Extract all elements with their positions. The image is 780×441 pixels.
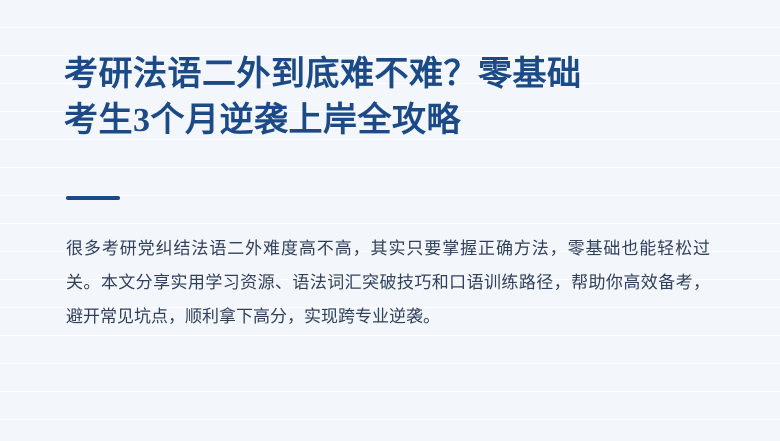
title-divider [66,196,120,200]
article-card: 考研法语二外到底难不难？零基础 考生3个月逆袭上岸全攻略 很多考研党纠结法语二外… [0,0,780,441]
article-content: 考研法语二外到底难不难？零基础 考生3个月逆袭上岸全攻略 很多考研党纠结法语二外… [64,0,732,441]
page-title: 考研法语二外到底难不难？零基础 考生3个月逆袭上岸全攻略 [64,52,704,144]
article-summary: 很多考研党纠结法语二外难度高不高，其实只要掌握正确方法，零基础也能轻松过关。本文… [66,232,710,334]
